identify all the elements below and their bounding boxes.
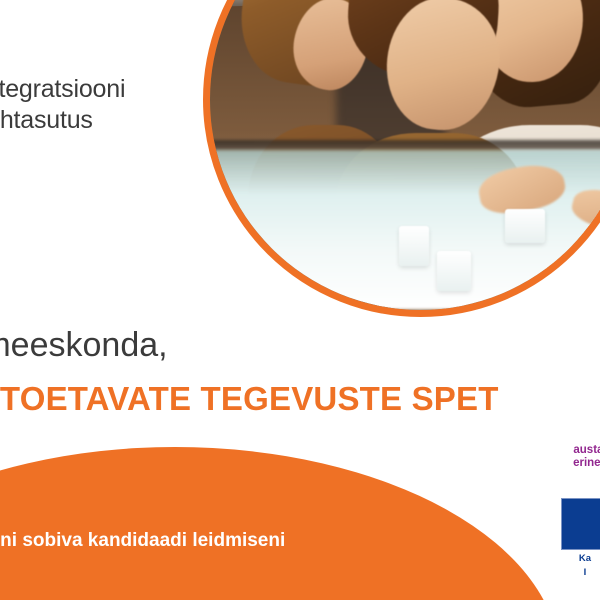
photo-block-2 xyxy=(437,251,471,291)
photo-block-1 xyxy=(399,226,429,266)
ministry-logo-line-2: I xyxy=(554,567,600,578)
diversity-charter-line-2: erinevu xyxy=(573,457,600,470)
ministry-logo-mark xyxy=(561,498,600,550)
hero-photo xyxy=(203,0,600,317)
photo-table-edge xyxy=(210,140,600,150)
hero-photo-artwork xyxy=(210,0,600,310)
diversity-charter-logo: austam erinevu xyxy=(573,444,600,470)
headline-subline: e meeskonda, xyxy=(0,325,414,365)
organisation-logo-line-2: Sihtasutus xyxy=(0,105,238,136)
photo-block-3 xyxy=(505,209,545,243)
poster-canvas: Integratsiooni Sihtasutus e meeskonda, E… xyxy=(0,0,600,600)
organisation-logo-text: Integratsiooni Sihtasutus xyxy=(0,74,238,136)
hero-photo-ring xyxy=(203,0,600,317)
headline-job-title: ET TOETAVATE TEGEVUSTE SPET xyxy=(0,379,600,419)
organisation-logo-line-1: Integratsiooni xyxy=(0,74,238,105)
diversity-charter-line-1: austam xyxy=(573,444,600,457)
application-deadline-text: kuni sobiva kandidaadi leidmiseni xyxy=(0,529,398,553)
orange-accent-shape xyxy=(0,447,560,600)
ministry-logo: Ka I xyxy=(554,498,600,578)
ministry-logo-line-1: Ka xyxy=(554,553,600,564)
